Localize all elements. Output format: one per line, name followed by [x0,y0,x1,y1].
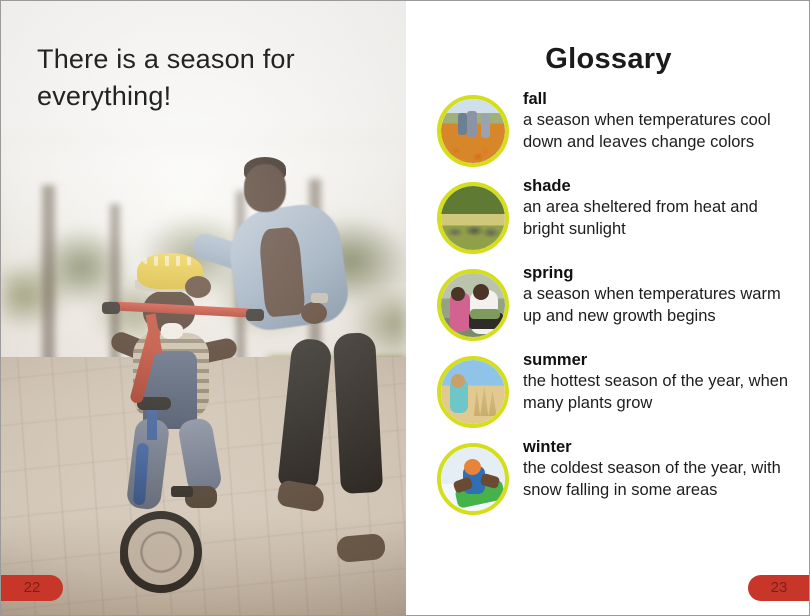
glossary-entries: fall a season when temperatures cool dow… [437,89,794,524]
glossary-entry: spring a season when temperatures warm u… [437,263,794,341]
right-page: Glossary fall a season when temperatures… [407,1,810,615]
glossary-term: summer [523,350,794,371]
thumbnail-spring [437,269,509,341]
left-page: There is a season for everything! 22 [1,1,406,615]
glossary-entry: shade an area sheltered from heat and br… [437,176,794,254]
glossary-definition: a season when temperatures warm up and n… [523,284,794,328]
thumbnail-winter [437,443,509,515]
page-number-right: 23 [748,575,810,601]
glossary-definition: the hottest season of the year, when man… [523,371,794,415]
glossary-definition: an area sheltered from heat and bright s… [523,197,794,241]
glossary-term: shade [523,176,794,197]
glossary-term: fall [523,89,794,110]
page-headline: There is a season for everything! [37,41,367,114]
thumbnail-fall [437,95,509,167]
glossary-definition: the coldest season of the year, with sno… [523,458,794,502]
glossary-title: Glossary [407,43,810,76]
book-spread: There is a season for everything! 22 Glo… [0,0,810,616]
thumbnail-summer [437,356,509,428]
glossary-entry: summer the hottest season of the year, w… [437,350,794,428]
thumbnail-shade [437,182,509,254]
glossary-definition: a season when temperatures cool down and… [523,110,794,154]
page-number-left: 22 [1,575,63,601]
glossary-term: winter [523,437,794,458]
glossary-term: spring [523,263,794,284]
glossary-entry: winter the coldest season of the year, w… [437,437,794,515]
glossary-entry: fall a season when temperatures cool dow… [437,89,794,167]
